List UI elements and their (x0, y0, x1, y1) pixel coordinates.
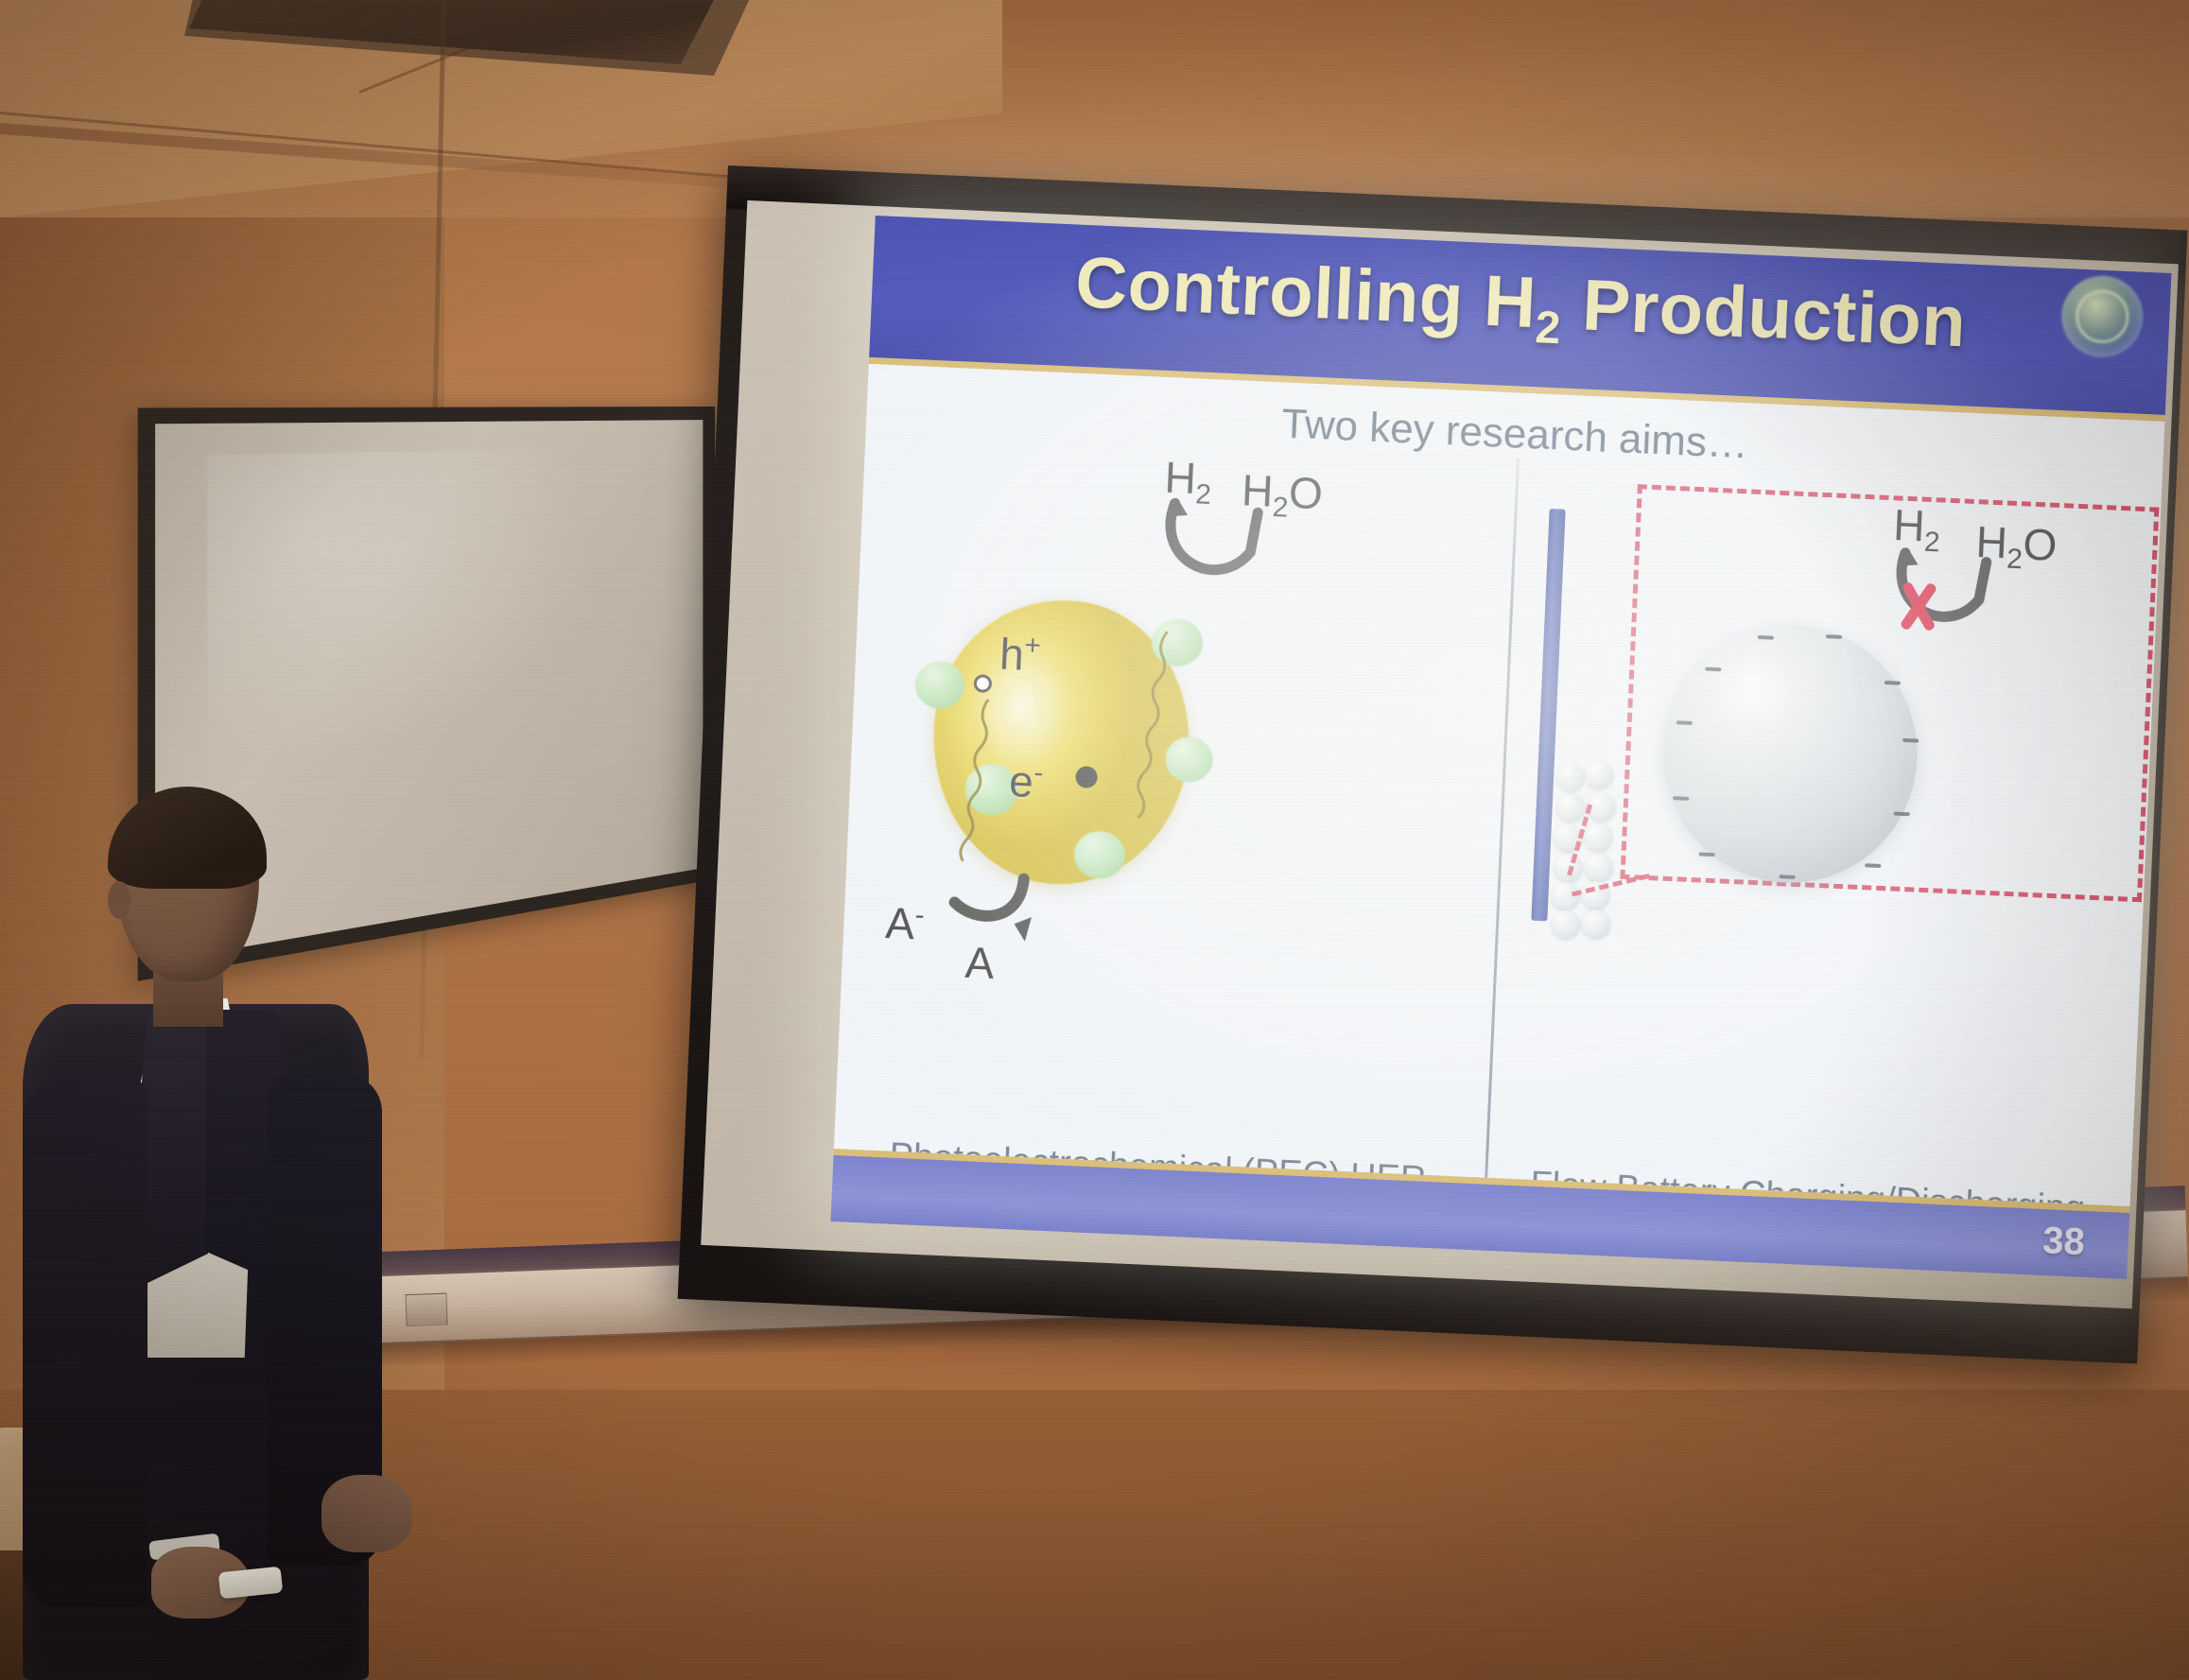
minus-sign (1758, 635, 1774, 640)
label-hole: h+ (999, 628, 1041, 681)
panel-flow-battery: H2 H2O (1483, 461, 2163, 1279)
minus-sign (1826, 634, 1842, 639)
label-electron: e- (1008, 755, 1044, 808)
presenter-hair (108, 787, 267, 889)
label-acceptor: A (964, 937, 996, 989)
panel-pec-her: H2 H2O h+ (830, 433, 1513, 1256)
presenter-arm-left (23, 1078, 148, 1607)
hydrogen-bubble (1582, 909, 1611, 939)
blocked-reaction-x-icon (1890, 579, 1945, 633)
minus-sign (1780, 875, 1796, 879)
whiteboard-glare (207, 448, 599, 772)
hydrogen-bubble (1556, 763, 1586, 792)
charge-transport-paths (921, 615, 1217, 902)
reaction-arrow-left (1142, 491, 1308, 601)
callout-leader-line (1572, 874, 1650, 896)
presentation-slide: Controlling H2 Production Two key resear… (830, 216, 2171, 1279)
acceptor-arrow (916, 867, 1092, 997)
hydrogen-bubble (1552, 910, 1581, 940)
hydrogen-bubble (1584, 853, 1613, 882)
lecture-room: Controlling H2 Production Two key resear… (0, 0, 2189, 1680)
slide-title-rest: Production (1560, 264, 1968, 362)
slide-number: 38 (2041, 1220, 2085, 1264)
slide-title-subscript: 2 (1534, 303, 1562, 354)
minus-sign (1894, 812, 1910, 817)
presenter (9, 794, 454, 1680)
projection-screen-assembly: Controlling H2 Production Two key resear… (678, 165, 2188, 1364)
presenter-ear (108, 881, 130, 919)
minus-sign (1699, 852, 1715, 857)
hydrogen-bubble (1585, 760, 1614, 789)
minus-sign (1885, 681, 1901, 685)
label-acceptor-reduced: A- (884, 897, 925, 950)
hydrogen-bubble (1584, 823, 1613, 852)
minus-sign (1865, 863, 1881, 868)
hydrogen-bubble (1556, 793, 1586, 823)
minus-sign (1902, 738, 1919, 743)
minus-sign (1673, 796, 1689, 801)
hydrogen-bubble (1551, 882, 1580, 911)
presenter-hand-right (321, 1475, 412, 1552)
minus-sign (1676, 720, 1693, 725)
minus-sign (1705, 667, 1721, 672)
